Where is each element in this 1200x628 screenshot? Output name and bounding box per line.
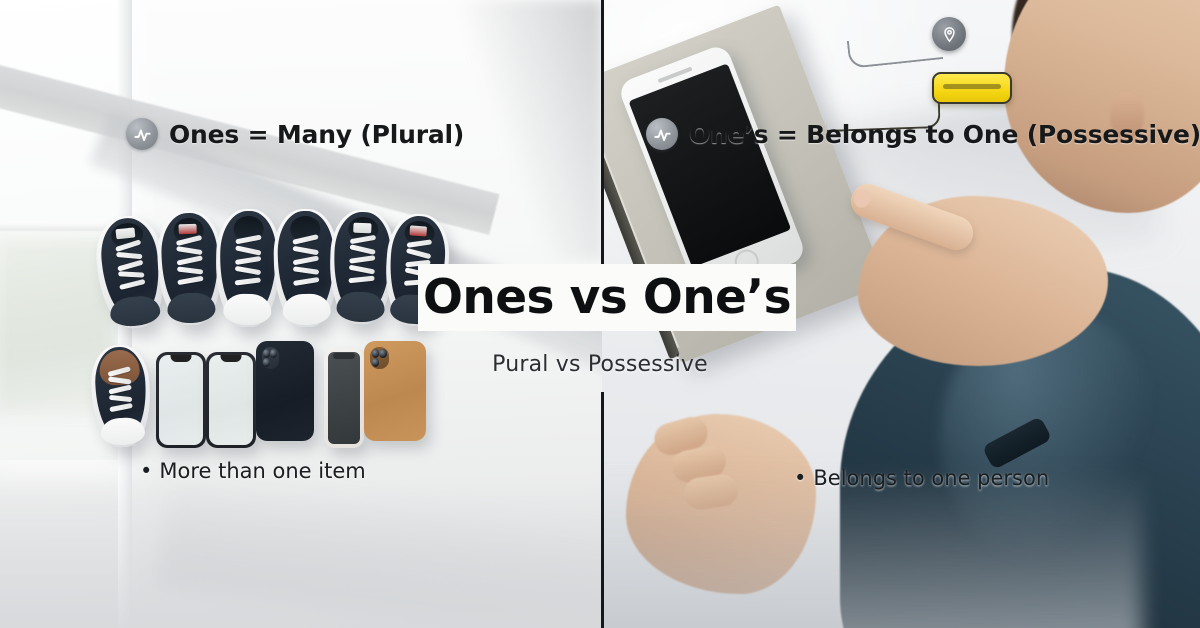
bullet-marker: • xyxy=(794,466,806,490)
infographic-canvas: Ones = Many (Plural) One’s = Belongs to … xyxy=(0,0,1200,628)
left-header-label: Ones = Many (Plural) xyxy=(169,120,464,149)
title-banner: Ones vs One’s xyxy=(418,264,796,331)
page-subtitle: Pural vs Possessive xyxy=(0,352,1200,377)
activity-pulse-icon xyxy=(126,118,158,150)
page-title: Ones vs One’s xyxy=(423,274,791,321)
floor-shadow xyxy=(602,468,1142,628)
wall-shadow xyxy=(452,0,602,260)
floor-gradient xyxy=(0,478,602,628)
right-header-label: One’s = Belongs to One (Possessive) xyxy=(689,120,1200,149)
activity-pulse-icon xyxy=(646,118,678,150)
left-header: Ones = Many (Plural) xyxy=(126,118,464,150)
right-bullet-label: Belongs to one person xyxy=(813,466,1049,490)
right-bullet: •Belongs to one person xyxy=(794,466,1049,490)
bullet-marker: • xyxy=(140,459,152,483)
panel-divider-bottom xyxy=(601,392,604,628)
left-bullet-label: More than one item xyxy=(159,459,365,483)
yellow-highlight-chip xyxy=(932,72,1012,104)
panel-divider-top xyxy=(601,0,604,266)
sneaker-item xyxy=(215,208,281,327)
sneaker-item xyxy=(156,210,224,326)
location-pin-icon xyxy=(932,17,966,51)
right-header: One’s = Belongs to One (Possessive) xyxy=(646,118,1200,150)
left-bullet: •More than one item xyxy=(140,459,366,483)
